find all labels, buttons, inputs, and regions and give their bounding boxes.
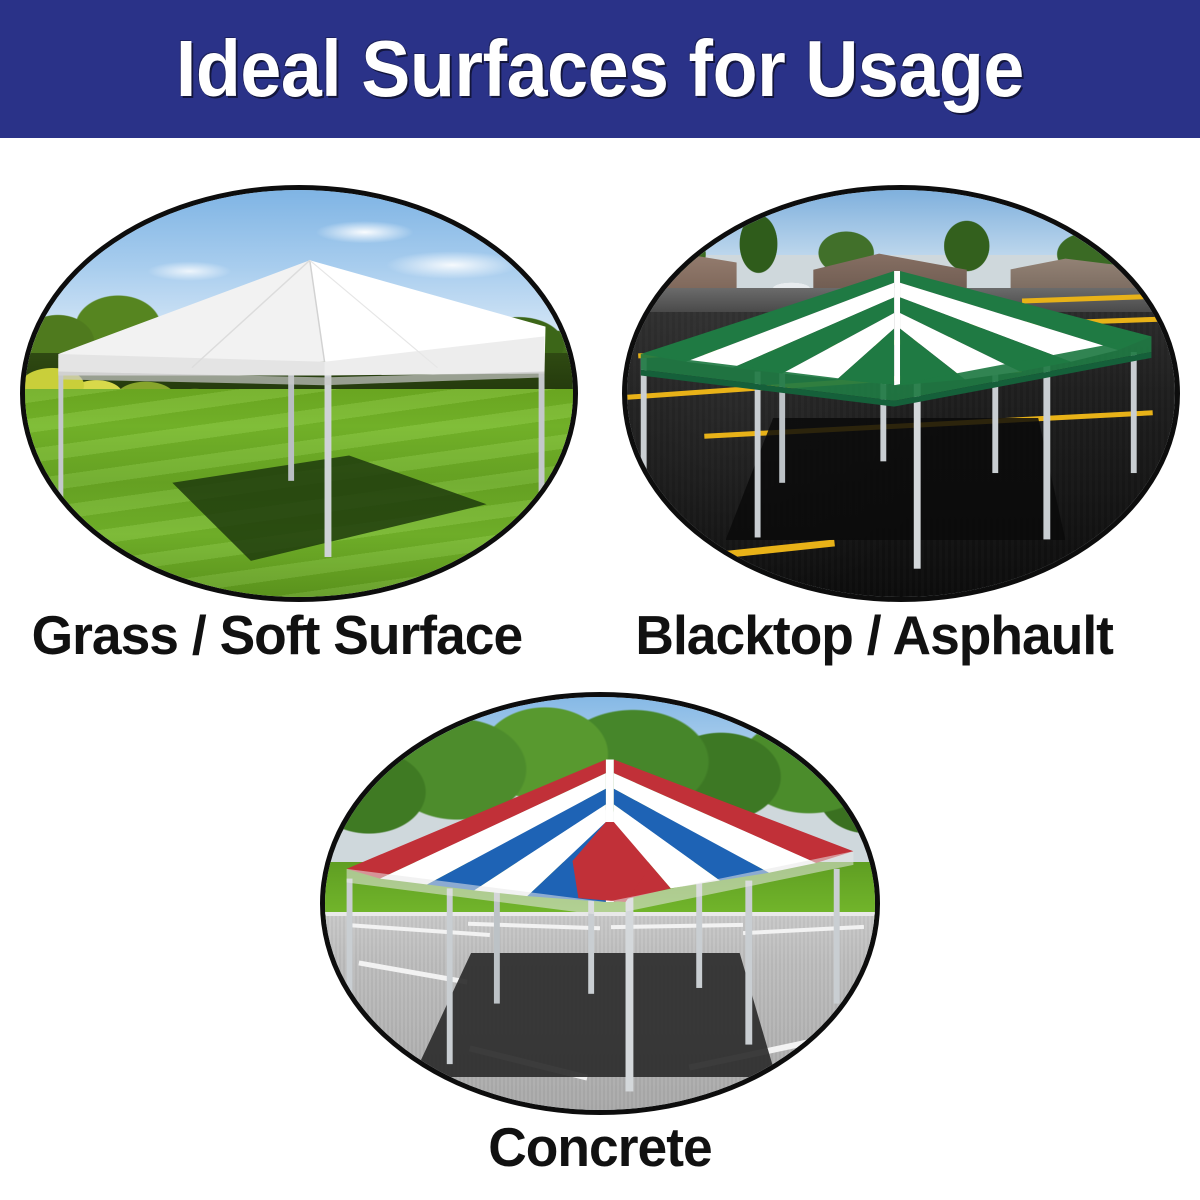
- scene-grass: [25, 190, 573, 597]
- photo-oval-grass: [20, 185, 578, 602]
- photo-oval-concrete: [320, 692, 880, 1115]
- caption-asphalt: Blacktop / Asphault: [635, 608, 1113, 663]
- header-banner: Ideal Surfaces for Usage: [0, 0, 1200, 138]
- red-white-blue-striped-tent-graphic: [325, 697, 875, 1110]
- white-frame-tent-graphic: [25, 190, 573, 597]
- green-white-striped-tent-graphic: [627, 190, 1175, 597]
- caption-concrete: Concrete: [18, 1120, 1182, 1175]
- caption-grass: Grass / Soft Surface: [32, 608, 523, 663]
- scene-concrete: [325, 697, 875, 1110]
- photo-oval-asphalt: [622, 185, 1180, 602]
- scene-asphalt: [627, 190, 1175, 597]
- page-title: Ideal Surfaces for Usage: [176, 29, 1024, 109]
